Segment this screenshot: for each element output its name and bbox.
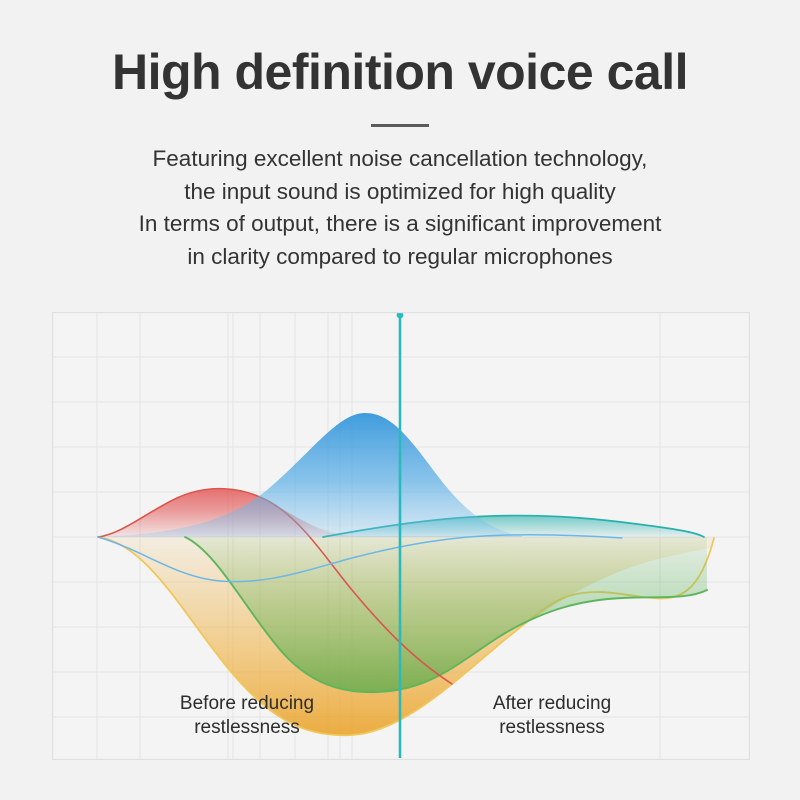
page-title: High definition voice call	[0, 44, 800, 100]
subtitle-line-2: the input sound is optimized for high qu…	[0, 176, 800, 209]
label-after-reducing: After reducing restlessness	[442, 692, 662, 741]
subtitle-line-1: Featuring excellent noise cancellation t…	[0, 143, 800, 176]
label-before-line-1: Before reducing	[137, 692, 357, 716]
waveform-chart: Before reducing restlessness After reduc…	[52, 312, 750, 760]
label-after-line-2: restlessness	[442, 716, 662, 740]
label-after-line-1: After reducing	[442, 692, 662, 716]
page-subtitle: Featuring excellent noise cancellation t…	[0, 143, 800, 274]
label-before-line-2: restlessness	[137, 716, 357, 740]
subtitle-line-3: In terms of output, there is a significa…	[0, 208, 800, 241]
page-root: High definition voice call Featuring exc…	[0, 0, 800, 800]
label-before-reducing: Before reducing restlessness	[137, 692, 357, 741]
subtitle-line-4: in clarity compared to regular microphon…	[0, 241, 800, 274]
title-divider	[371, 124, 429, 127]
